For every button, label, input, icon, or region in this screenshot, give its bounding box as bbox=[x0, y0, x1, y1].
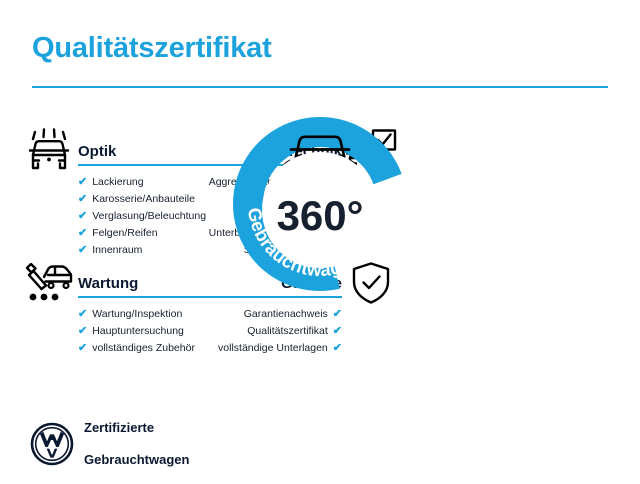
list-item: Qualitätszertifikat✔ bbox=[142, 323, 342, 340]
check-icon: ✔ bbox=[333, 306, 342, 323]
check-icon: ✔ bbox=[78, 191, 87, 208]
list-item-label: Qualitätszertifikat bbox=[247, 323, 328, 340]
check-icon: ✔ bbox=[78, 208, 87, 225]
check-icon: ✔ bbox=[78, 306, 87, 323]
footer-line-2: Gebrauchtwagen bbox=[84, 452, 189, 468]
check-icon: ✔ bbox=[78, 340, 87, 357]
footer-brand: Zertifizierte Gebrauchtwagen bbox=[30, 404, 189, 484]
badge-center-label: 360° bbox=[277, 192, 364, 239]
list-item-label: Lackierung bbox=[92, 174, 143, 191]
check-icon: ✔ bbox=[333, 323, 342, 340]
check-icon: ✔ bbox=[78, 323, 87, 340]
footer-line-1: Zertifizierte bbox=[84, 420, 189, 436]
check-icon: ✔ bbox=[333, 340, 342, 357]
header-divider bbox=[32, 86, 608, 88]
car-service-wrench-icon bbox=[22, 260, 76, 308]
page-title: Qualitätszertifikat bbox=[32, 32, 272, 65]
list-item: Garantienachweis✔ bbox=[142, 306, 342, 323]
section-garantie-list: Garantienachweis✔ Qualitätszertifikat✔ v… bbox=[142, 306, 342, 357]
list-item-label: Garantienachweis bbox=[244, 306, 328, 323]
certificate-page: Qualitätszertifikat bbox=[0, 0, 640, 480]
footer-brand-text: Zertifizierte Gebrauchtwagen bbox=[84, 404, 189, 484]
badge-360-gebrauchtwagen-check: Gebrauchtwagen-Check 360° bbox=[228, 112, 412, 296]
check-icon: ✔ bbox=[78, 242, 87, 259]
section-garantie-divider bbox=[180, 296, 342, 298]
car-front-shine-icon bbox=[22, 128, 76, 176]
list-item-label: vollständige Unterlagen bbox=[218, 340, 328, 357]
check-icon: ✔ bbox=[78, 174, 87, 191]
list-item-label: Innenraum bbox=[92, 242, 142, 259]
check-icon: ✔ bbox=[78, 225, 87, 242]
list-item: vollständige Unterlagen✔ bbox=[142, 340, 342, 357]
vw-logo-icon bbox=[30, 422, 74, 466]
